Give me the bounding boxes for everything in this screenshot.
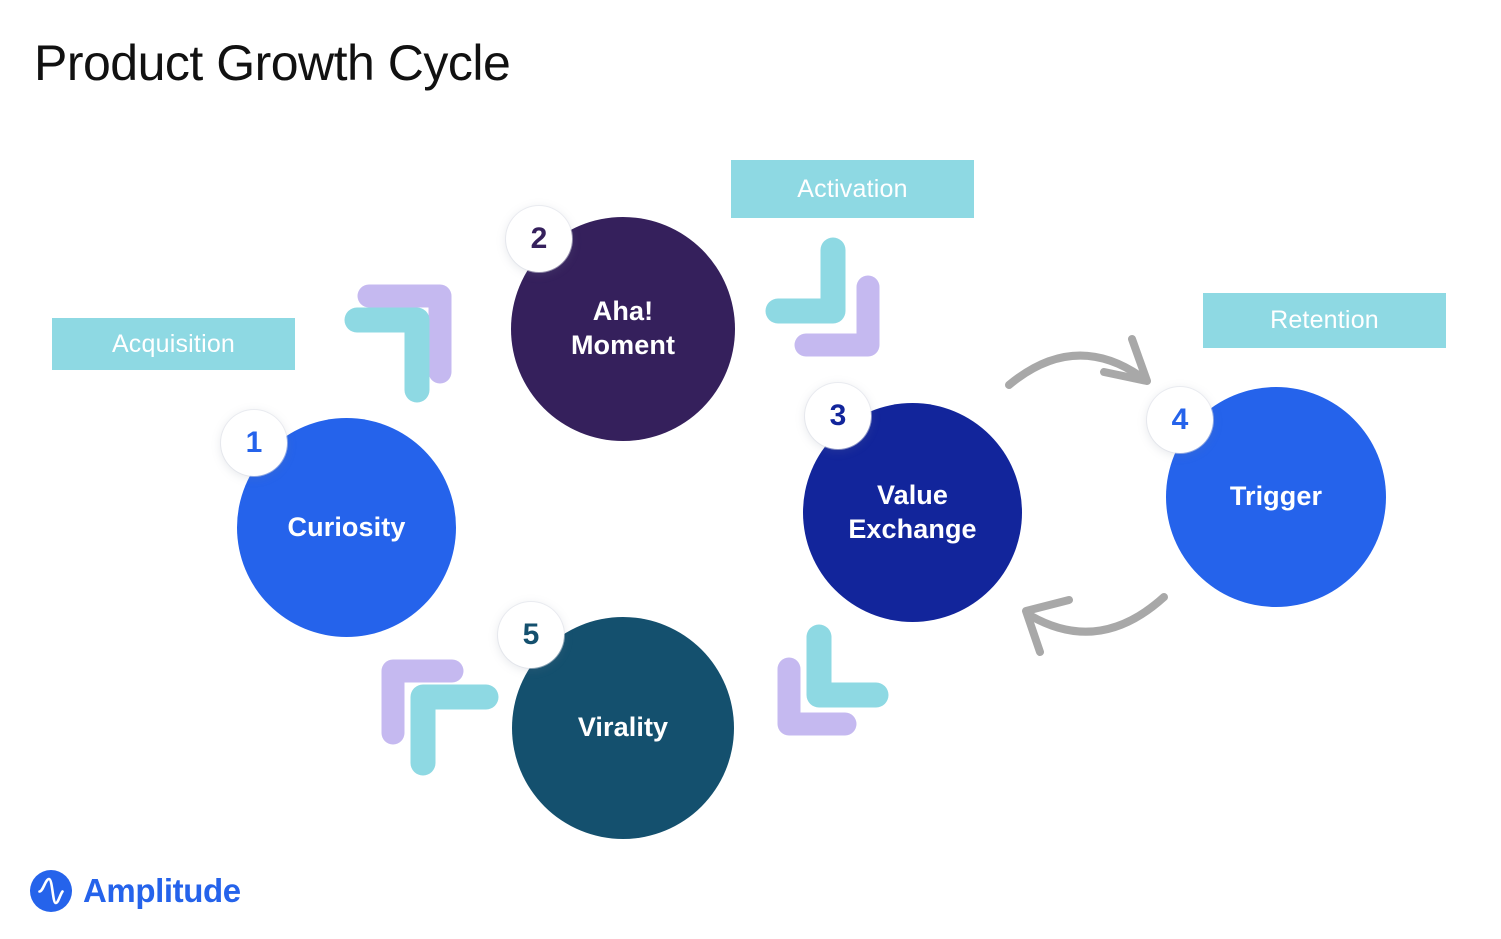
node-trigger-label: Trigger bbox=[1216, 480, 1336, 514]
step-badge-4: 4 bbox=[1147, 387, 1213, 453]
elbow-connector-virality-to-curiosity bbox=[393, 671, 486, 763]
curved-arrow-trigger-to-value-exchange bbox=[1026, 597, 1164, 652]
amplitude-wave-a-icon bbox=[30, 870, 72, 912]
step-badge-2: 2 bbox=[506, 206, 572, 272]
elbow-connector-aha-to-value-exchange bbox=[778, 250, 868, 345]
node-virality-label: Virality bbox=[564, 711, 682, 745]
diagram-canvas: Product Growth Cycle bbox=[0, 0, 1501, 939]
elbow-connector-curiosity-to-aha bbox=[357, 296, 440, 390]
node-curiosity-label: Curiosity bbox=[274, 511, 420, 545]
stage-label-retention: Retention bbox=[1203, 293, 1446, 348]
step-badge-5: 5 bbox=[498, 602, 564, 668]
amplitude-logo: Amplitude bbox=[30, 870, 241, 912]
elbow-connector-value-exchange-to-virality bbox=[789, 637, 876, 724]
node-value-exchange-label: Value Exchange bbox=[834, 479, 990, 547]
curved-arrow-value-exchange-to-trigger bbox=[1009, 339, 1147, 385]
node-aha-moment-label: Aha! Moment bbox=[557, 295, 689, 363]
stage-label-activation: Activation bbox=[731, 160, 974, 218]
step-badge-3: 3 bbox=[805, 383, 871, 449]
stage-label-acquisition: Acquisition bbox=[52, 318, 295, 370]
step-badge-1: 1 bbox=[221, 410, 287, 476]
amplitude-wordmark: Amplitude bbox=[83, 872, 241, 910]
